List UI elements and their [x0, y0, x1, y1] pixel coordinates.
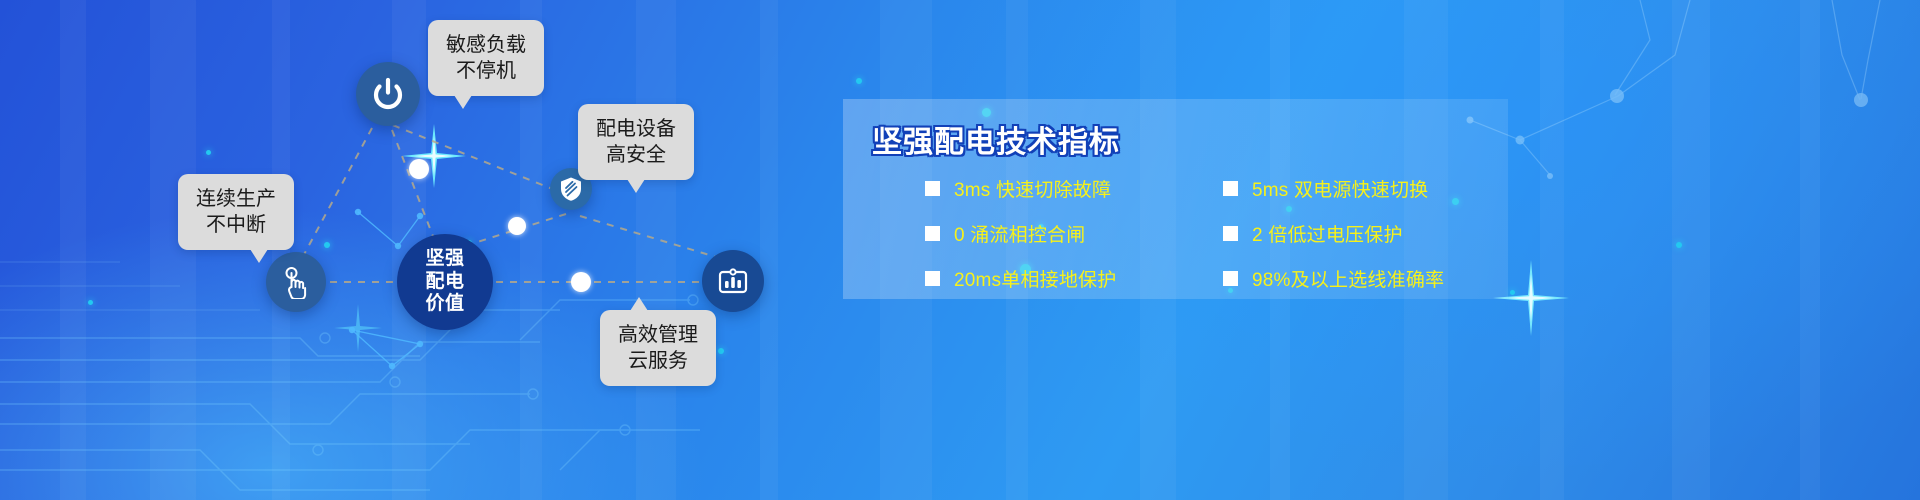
power-button-icon [370, 76, 406, 112]
bullet-icon [925, 226, 940, 241]
link-bead [571, 272, 591, 292]
spec-label: 5ms 双电源快速切换 [1252, 175, 1428, 202]
node-power[interactable] [356, 62, 420, 126]
callout-line-2: 不中断 [196, 212, 276, 238]
tech-spec-panel: 坚强配电技术指标 3ms 快速切除故障 5ms 双电源快速切换 0 涌流相控合闸… [843, 99, 1508, 299]
node-touch[interactable] [266, 252, 326, 312]
callout-line-1: 敏感负载 [446, 32, 526, 58]
center-node-line-3: 价值 [425, 293, 464, 315]
spec-item[interactable]: 5ms 双电源快速切换 [1223, 175, 1505, 202]
spec-label: 98%及以上选线准确率 [1252, 265, 1444, 292]
spec-item[interactable]: 2 倍低过电压保护 [1223, 220, 1505, 247]
bullet-icon [925, 181, 940, 196]
callout-line-1: 连续生产 [196, 186, 276, 212]
spec-item[interactable]: 20ms单相接地保护 [925, 265, 1207, 292]
panel-title: 坚强配电技术指标 [872, 117, 1120, 161]
bar-chart-icon [717, 265, 749, 297]
spec-label: 3ms 快速切除故障 [954, 175, 1111, 202]
callout-continuous-production[interactable]: 连续生产 不中断 [178, 174, 294, 250]
callout-power-equipment[interactable]: 配电设备 高安全 [578, 104, 694, 180]
spec-label: 20ms单相接地保护 [954, 265, 1116, 292]
callout-line-2: 不停机 [446, 58, 526, 84]
bullet-icon [1223, 271, 1238, 286]
spec-item[interactable]: 0 涌流相控合闸 [925, 220, 1207, 247]
node-chart[interactable] [702, 250, 764, 312]
callout-line-2: 云服务 [618, 348, 698, 374]
spec-list: 3ms 快速切除故障 5ms 双电源快速切换 0 涌流相控合闸 2 倍低过电压保… [925, 175, 1505, 292]
spec-label: 0 涌流相控合闸 [954, 220, 1085, 247]
link-bead [508, 217, 526, 235]
center-node-line-1: 坚强 [425, 248, 464, 270]
bullet-icon [1223, 181, 1238, 196]
callout-line-1: 高效管理 [618, 322, 698, 348]
hand-touch-icon [279, 265, 313, 299]
promo-banner: 坚强 配电 价值 敏感负载 不停机 配电设备 高安全 连续生产 不中断 高效管理… [0, 0, 1920, 500]
center-node-line-2: 配电 [425, 271, 464, 293]
center-node-value[interactable]: 坚强 配电 价值 [397, 234, 493, 330]
callout-cloud-management[interactable]: 高效管理 云服务 [600, 310, 716, 386]
spec-label: 2 倍低过电压保护 [1252, 220, 1403, 247]
spec-item[interactable]: 98%及以上选线准确率 [1223, 265, 1505, 292]
shield-icon [559, 176, 583, 202]
link-bead [409, 159, 429, 179]
bullet-icon [1223, 226, 1238, 241]
callout-line-2: 高安全 [596, 142, 676, 168]
bullet-icon [925, 271, 940, 286]
spec-item[interactable]: 3ms 快速切除故障 [925, 175, 1207, 202]
value-diagram: 坚强 配电 价值 敏感负载 不停机 配电设备 高安全 连续生产 不中断 高效管理… [0, 0, 860, 500]
callout-sensitive-load[interactable]: 敏感负载 不停机 [428, 20, 544, 96]
callout-line-1: 配电设备 [596, 116, 676, 142]
